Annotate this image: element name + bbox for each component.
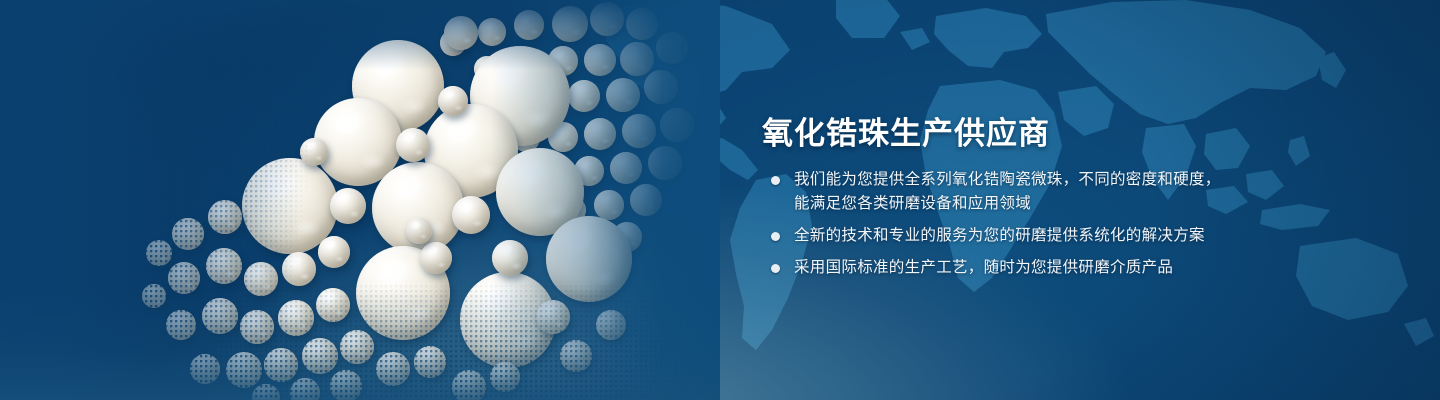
bullet-dot-icon bbox=[771, 264, 780, 273]
product-hero-banner: 氧化锆珠生产供应商 我们能为您提供全系列氧化锆陶瓷微珠，不同的密度和硬度， 能满… bbox=[0, 0, 1440, 400]
bullet-text-line-2: 能满足您各类研磨设备和应用领域 bbox=[794, 192, 1233, 216]
banner-bullet-list: 我们能为您提供全系列氧化锆陶瓷微珠，不同的密度和硬度， 能满足您各类研磨设备和应… bbox=[763, 168, 1233, 280]
bullet-text-line-1: 全新的技术和专业的服务为您的研磨提供系统化的解决方案 bbox=[794, 224, 1233, 248]
zirconia-beads-photo bbox=[0, 0, 720, 400]
bullet-dot-icon bbox=[771, 176, 780, 185]
banner-headline: 氧化锆珠生产供应商 bbox=[762, 108, 1050, 153]
bullet-dot-icon bbox=[771, 232, 780, 241]
bullet-text-line-1: 采用国际标准的生产工艺，随时为您提供研磨介质产品 bbox=[794, 256, 1233, 280]
list-item: 采用国际标准的生产工艺，随时为您提供研磨介质产品 bbox=[763, 256, 1233, 280]
bead-cluster bbox=[0, 0, 720, 400]
bullet-text-line-1: 我们能为您提供全系列氧化锆陶瓷微珠，不同的密度和硬度， bbox=[794, 168, 1233, 192]
list-item: 全新的技术和专业的服务为您的研磨提供系统化的解决方案 bbox=[763, 224, 1233, 248]
banner-text-column: 氧化锆珠生产供应商 我们能为您提供全系列氧化锆陶瓷微珠，不同的密度和硬度， 能满… bbox=[760, 0, 1320, 400]
list-item: 我们能为您提供全系列氧化锆陶瓷微珠，不同的密度和硬度， 能满足您各类研磨设备和应… bbox=[763, 168, 1233, 216]
